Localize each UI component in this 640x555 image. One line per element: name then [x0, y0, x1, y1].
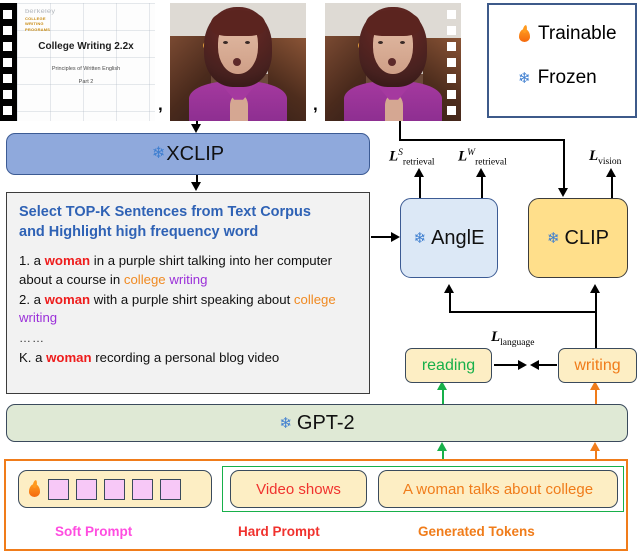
loss-retrieval-sentence: LSretrieval — [389, 148, 435, 167]
corpus-text: a — [31, 350, 46, 365]
corpus-text: a — [30, 292, 45, 307]
arrowhead-loss-vision — [606, 168, 616, 177]
loss-symbol: L — [589, 148, 598, 164]
corpus-sentence: K. a woman recording a personal blog vid… — [19, 349, 357, 368]
corpus-sentence: …… — [19, 329, 357, 348]
module-xclip-text: XCLIP — [166, 143, 224, 166]
corpus-text: a — [30, 253, 45, 268]
connector-frame2-right — [399, 139, 565, 141]
arrowhead-reading-language — [518, 360, 527, 370]
connector-frame2-down — [399, 121, 401, 141]
loss-superscript: W — [467, 148, 475, 158]
corpus-highlight-purple: writing — [19, 310, 57, 325]
module-angle[interactable]: ❄AnglE — [400, 198, 498, 278]
corpus-highlight-dots: …… — [19, 331, 45, 345]
loss-symbol: L — [458, 149, 467, 165]
slide-content: berkeley COLLEGE WRITING PROGRAMS Colleg… — [17, 3, 155, 121]
module-gpt2-text: GPT-2 — [297, 412, 355, 435]
corpus-sentence-index: 1. — [19, 253, 30, 268]
loss-subscript: language — [500, 338, 534, 348]
legend-label-trainable: Trainable — [538, 23, 617, 45]
corpus-sentence-index: 2. — [19, 292, 30, 307]
corpus-highlight-purple: writing — [169, 272, 207, 287]
arrowhead-loss-s — [414, 168, 424, 177]
flame-icon — [518, 26, 531, 43]
legend-item-trainable: Trainable — [518, 23, 617, 45]
snowflake-icon: ❄ — [547, 231, 560, 246]
legend-box: Trainable ❄ Frozen — [487, 3, 637, 118]
loss-retrieval-word: LWretrieval — [458, 148, 507, 167]
corpus-heading: Select TOP-K Sentences from Text Corpus … — [19, 203, 357, 242]
arrowhead-frame2-clip — [558, 188, 568, 197]
arrowhead-green-gpt2 — [437, 442, 447, 451]
loss-symbol: L — [491, 329, 500, 345]
module-clip[interactable]: ❄CLIP — [528, 198, 628, 278]
token-reading-text: reading — [422, 357, 475, 375]
arrowhead-xclip-corpus — [191, 182, 201, 191]
soft-prompt-slot[interactable] — [160, 479, 181, 500]
video-frame-1 — [170, 3, 306, 121]
arrowhead-corpus-angle — [391, 232, 400, 242]
soft-prompt-slots — [48, 479, 181, 500]
frame-separator-comma-1: , — [158, 96, 163, 113]
module-gpt2[interactable]: ❄GPT-2 — [6, 404, 628, 442]
corpus-highlight-orange: college — [294, 292, 336, 307]
loss-symbol: L — [389, 149, 398, 165]
corpus-sentence-list: 1. a woman in a purple shirt talking int… — [19, 252, 357, 367]
loss-subscript: retrieval — [403, 157, 435, 167]
corpus-highlight-red: woman — [46, 350, 91, 365]
slide-subtitle: Principles of Written English — [17, 66, 155, 72]
module-clip-label: ❄CLIP — [547, 227, 609, 250]
soft-prompt-slot[interactable] — [104, 479, 125, 500]
arrowhead-branch-angle — [444, 284, 454, 293]
soft-prompt-box[interactable] — [18, 470, 212, 508]
arrowhead-writing-clip — [590, 284, 600, 293]
snowflake-icon: ❄ — [279, 416, 292, 431]
caption-soft-prompt: Soft Prompt — [55, 524, 132, 539]
loss-subscript: retrieval — [475, 157, 507, 167]
slide-logo-line1: COLLEGE — [25, 16, 46, 21]
frame-separator-comma-2: , — [313, 96, 318, 113]
snowflake-icon: ❄ — [152, 146, 165, 162]
corpus-sentence: 1. a woman in a purple shirt talking int… — [19, 252, 357, 289]
caption-generated-tokens: Generated Tokens — [418, 524, 535, 539]
generated-tokens-text: A woman talks about college — [403, 481, 593, 498]
arrowhead-orange-gpt2 — [590, 442, 600, 451]
token-writing[interactable]: writing — [558, 348, 637, 383]
legend-label-frozen: Frozen — [538, 67, 597, 89]
connector-frame2-clip — [563, 139, 565, 189]
token-reading[interactable]: reading — [405, 348, 492, 383]
slide-part: Part 2 — [17, 79, 155, 85]
film-sprockets-left — [3, 3, 14, 121]
module-angle-label: ❄AnglE — [414, 227, 485, 250]
slide-logo-mark: berkeley — [25, 8, 56, 16]
connector-branch-angle — [449, 311, 597, 313]
module-xclip[interactable]: ❄XCLIP — [6, 133, 370, 175]
legend-item-frozen: ❄ Frozen — [518, 67, 597, 89]
corpus-highlight-orange: college — [124, 272, 166, 287]
video-frame-slide: berkeley COLLEGE WRITING PROGRAMS Colleg… — [0, 3, 155, 121]
arrowhead-frame-xclip — [191, 124, 201, 133]
module-angle-text: AnglE — [431, 227, 484, 250]
token-writing-text: writing — [574, 357, 620, 375]
loss-language: Llanguage — [491, 329, 534, 348]
caption-hard-prompt: Hard Prompt — [238, 524, 320, 539]
snowflake-icon: ❄ — [518, 71, 531, 86]
slide-logo-line2: WRITING — [25, 21, 44, 26]
slide-title: College Writing 2.2x — [17, 41, 155, 52]
connector-reading-language — [494, 364, 520, 366]
loss-vision: Lvision — [589, 148, 621, 167]
module-xclip-label: ❄XCLIP — [152, 143, 224, 166]
loss-subscript: vision — [598, 157, 621, 167]
arrowhead-loss-w — [476, 168, 486, 177]
corpus-heading-line1: Select TOP-K Sentences from Text Corpus — [19, 203, 357, 223]
slide-logo: berkeley COLLEGE WRITING PROGRAMS — [25, 8, 50, 32]
corpus-highlight-red: woman — [45, 292, 90, 307]
text-corpus-panel: Select TOP-K Sentences from Text Corpus … — [6, 192, 370, 394]
soft-prompt-slot[interactable] — [76, 479, 97, 500]
generated-tokens-box[interactable]: A woman talks about college — [378, 470, 618, 508]
film-sprockets-right — [447, 3, 458, 121]
corpus-heading-line2: and Highlight high frequency word — [19, 223, 357, 243]
slide-logo-line3: PROGRAMS — [25, 27, 50, 32]
soft-prompt-slot[interactable] — [48, 479, 69, 500]
corpus-text: recording a personal blog video — [92, 350, 280, 365]
flame-icon — [28, 481, 41, 498]
connector-writing-clip — [595, 288, 597, 348]
soft-prompt-slot[interactable] — [132, 479, 153, 500]
video-frame-2 — [325, 3, 461, 121]
hard-prompt-text: Video shows — [256, 481, 341, 498]
hard-prompt-token[interactable]: Video shows — [230, 470, 367, 508]
corpus-sentence-index: K. — [19, 350, 31, 365]
module-gpt2-label: ❄GPT-2 — [279, 412, 354, 435]
module-clip-text: CLIP — [565, 227, 609, 250]
corpus-text: with a purple shirt speaking about — [90, 292, 294, 307]
snowflake-icon: ❄ — [414, 231, 427, 246]
corpus-sentence: 2. a woman with a purple shirt speaking … — [19, 291, 357, 328]
arrowhead-writing-language — [530, 360, 539, 370]
corpus-highlight-red: woman — [45, 253, 90, 268]
connector-corpus-angle — [371, 236, 393, 238]
